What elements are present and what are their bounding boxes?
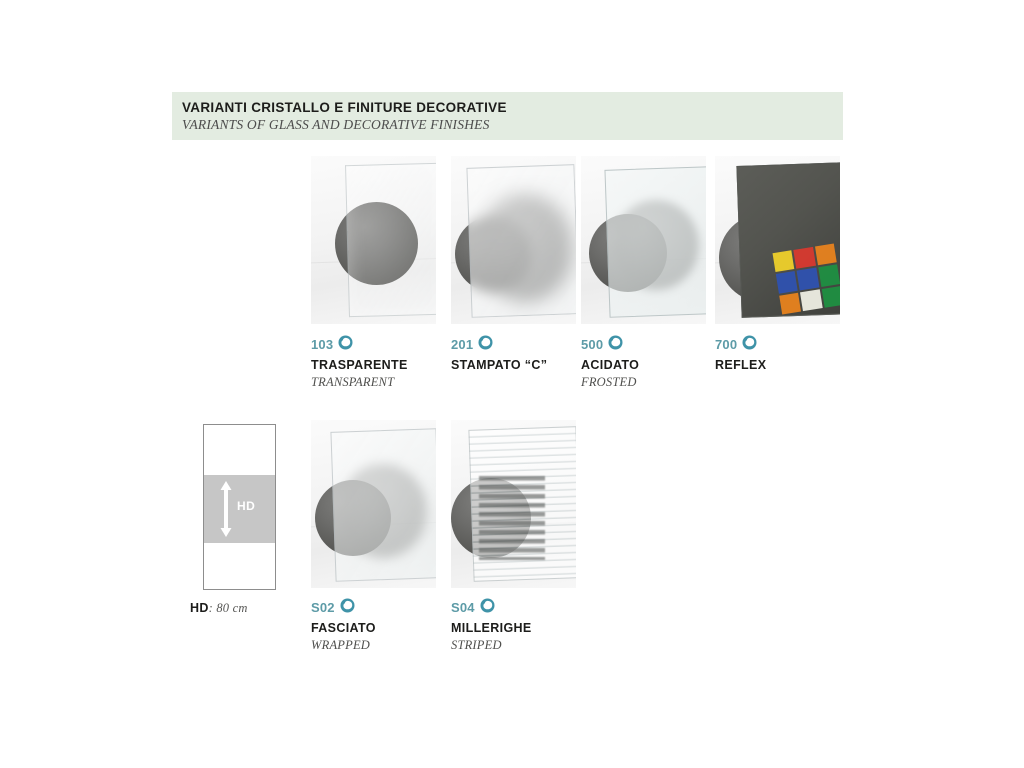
gloss-drop-icon <box>480 598 495 618</box>
code-line: 700 <box>715 336 865 354</box>
sample-code: 201 <box>451 336 473 354</box>
sample-name-english: FROSTED <box>581 374 731 391</box>
cube-tile <box>818 265 840 287</box>
sample-card-reflex[interactable] <box>715 156 840 324</box>
hd-caption: HD: 80 cm <box>190 600 310 617</box>
gloss-drop-icon <box>478 335 493 355</box>
sample-card-trasparente[interactable] <box>311 156 436 324</box>
cube-tile <box>773 250 795 272</box>
hd-double-arrow-icon <box>220 481 232 537</box>
gloss-drop-icon <box>338 335 353 355</box>
cube-tile <box>794 247 816 269</box>
gloss-drop-icon <box>742 335 757 355</box>
caption-trasparente: 103 TRASPARENTE TRANSPARENT <box>311 336 461 391</box>
glass-pane <box>604 166 706 318</box>
sample-photo-fasciato <box>311 420 436 588</box>
section-header-band: VARIANTI CRISTALLO E FINITURE DECORATIVE… <box>172 92 843 140</box>
sample-photo-millerighe <box>451 420 576 588</box>
code-line: 201 <box>451 336 601 354</box>
caption-millerighe: S04 MILLERIGHE STRIPED <box>451 599 601 654</box>
sample-code: S02 <box>311 599 335 617</box>
sample-photo-trasparente <box>311 156 436 324</box>
sphere-stripe-streaks <box>479 476 545 560</box>
sample-code: 103 <box>311 336 333 354</box>
sample-code: S04 <box>451 599 475 617</box>
cube-tile <box>815 244 837 266</box>
sample-name-english: STRIPED <box>451 637 601 654</box>
sample-name-italian: FASCIATO <box>311 620 461 637</box>
gloss-drop-icon <box>608 335 623 355</box>
glass-pane <box>330 428 436 582</box>
sample-name-italian: STAMPATO “C” <box>451 357 601 374</box>
cube-tile <box>779 292 801 314</box>
sample-card-fasciato[interactable] <box>311 420 436 588</box>
glass-pane <box>345 163 436 317</box>
cube-tile <box>776 271 798 293</box>
caption-acidato: 500 ACIDATO FROSTED <box>581 336 731 391</box>
gloss-drop-icon <box>340 598 355 618</box>
hd-dimension-diagram: HD <box>203 424 276 590</box>
code-line: 500 <box>581 336 731 354</box>
code-line: 103 <box>311 336 461 354</box>
sample-card-stampato-c[interactable] <box>451 156 576 324</box>
code-line: S04 <box>451 599 601 617</box>
sample-photo-stampato-c <box>451 156 576 324</box>
caption-stampato-c: 201 STAMPATO “C” <box>451 336 601 374</box>
sample-name-italian: MILLERIGHE <box>451 620 601 637</box>
sample-name-italian: ACIDATO <box>581 357 731 374</box>
sample-code: 500 <box>581 336 603 354</box>
caption-fasciato: S02 FASCIATO WRAPPED <box>311 599 461 654</box>
sample-card-acidato[interactable] <box>581 156 706 324</box>
sample-name-italian: REFLEX <box>715 357 865 374</box>
glass-pane <box>466 164 576 318</box>
cube-tile <box>821 286 840 308</box>
sample-photo-reflex <box>715 156 840 324</box>
code-line: S02 <box>311 599 461 617</box>
cube-tile <box>800 289 822 311</box>
hd-caption-value: : 80 cm <box>209 601 248 615</box>
sample-name-english: WRAPPED <box>311 637 461 654</box>
sample-photo-acidato <box>581 156 706 324</box>
hd-caption-key: HD <box>190 601 209 615</box>
sample-card-millerighe[interactable] <box>451 420 576 588</box>
cube-tile <box>797 268 819 290</box>
section-title-english: VARIANTS OF GLASS AND DECORATIVE FINISHE… <box>182 116 843 134</box>
caption-reflex: 700 REFLEX <box>715 336 865 374</box>
sample-name-italian: TRASPARENTE <box>311 357 461 374</box>
rubiks-cube-reflection <box>773 244 840 315</box>
section-title-italian: VARIANTI CRISTALLO E FINITURE DECORATIVE <box>182 99 843 116</box>
sample-name-english: TRANSPARENT <box>311 374 461 391</box>
sample-code: 700 <box>715 336 737 354</box>
hd-band-label: HD <box>237 499 255 513</box>
